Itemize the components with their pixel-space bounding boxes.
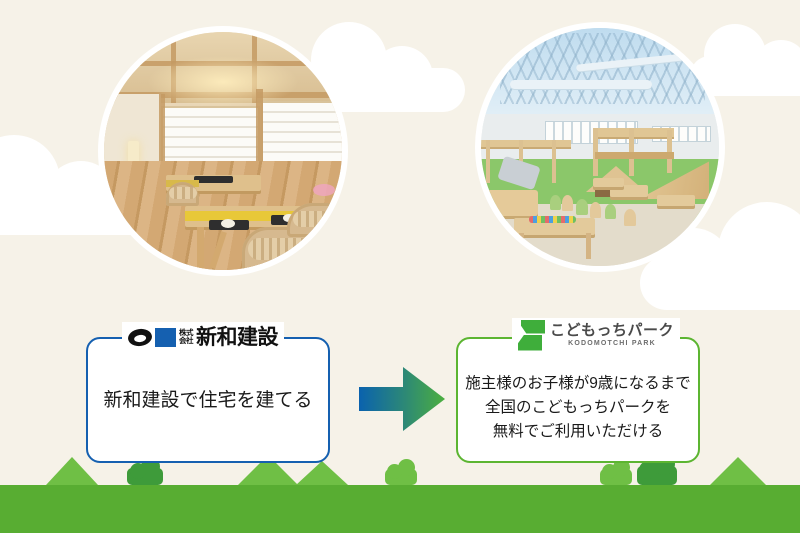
right-card-text: 施主様のお子様が9歳になるまで 全国のこどもっちパークを 無料でご利用いただける (458, 372, 698, 444)
slide-canvas: 新和建設で住宅を建てる 株式 会社 新和建設 (0, 0, 800, 533)
ground-strip (0, 485, 800, 533)
kodomotchi-mark-icon (518, 320, 545, 351)
left-card-line: 新和建設で住宅を建てる (88, 386, 328, 416)
hill-icon (296, 461, 348, 485)
right-card-line: 無料でご利用いただける (458, 420, 698, 444)
shinwa-company-name: 新和建設 (196, 327, 278, 348)
flow-arrow (359, 366, 445, 432)
kodomotchi-logo-badge: こどもっちパーク KODOMOTCHI PARK (512, 318, 680, 352)
shinwa-square-icon (155, 328, 176, 347)
kodomotchi-park-photo (481, 28, 719, 266)
kodomotchi-en-name: KODOMOTCHI PARK (568, 339, 656, 348)
left-flow-card: 新和建設で住宅を建てる (86, 337, 330, 463)
right-flow-card: 施主様のお子様が9歳になるまで 全国のこどもっちパークを 無料でご利用いただける (456, 337, 700, 463)
kodomotchi-jp-name: こどもっちパーク (550, 323, 674, 339)
right-card-line: 全国のこどもっちパークを (458, 396, 698, 420)
shinwa-company-prefix: 株式 会社 (179, 329, 193, 346)
shinwa-prefix-line2: 会社 (179, 336, 193, 345)
shinwa-logo-badge: 株式 会社 新和建設 (122, 322, 284, 352)
right-card-line: 施主様のお子様が9歳になるまで (458, 372, 698, 396)
house-interior-photo (104, 32, 342, 270)
shinwa-mark-icon (127, 327, 153, 347)
left-card-text: 新和建設で住宅を建てる (88, 386, 328, 416)
hill-icon (710, 457, 766, 485)
bush-icon (385, 458, 417, 485)
hill-icon (46, 457, 98, 485)
